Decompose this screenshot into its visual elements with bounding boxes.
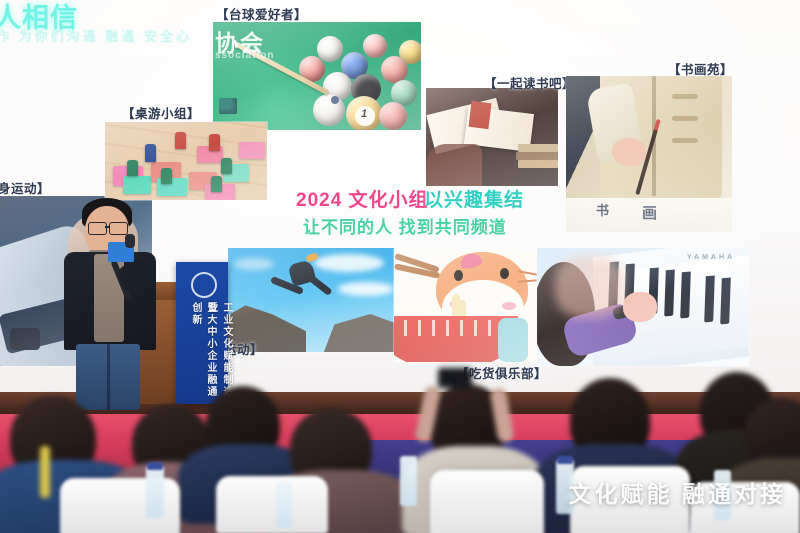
- emblem-icon: [191, 272, 217, 298]
- photo-tile-billiards: 1 协会 ssociation: [213, 22, 421, 130]
- tag-reading: 【一起读书吧】: [484, 73, 575, 92]
- chair-2: [216, 476, 328, 533]
- photo-tile-sports: [228, 248, 394, 352]
- speaker-glasses-left: [88, 222, 107, 235]
- calligraphy-photo: 书 画: [566, 76, 732, 232]
- billiards-overlay-en: ssociation: [215, 50, 274, 61]
- water-bottle-1: [146, 466, 164, 518]
- phone-device: [438, 368, 472, 388]
- speaker: [52, 198, 168, 410]
- calligraphy-ink-2: 画: [642, 202, 657, 223]
- tag-calligraphy: 【书画苑】: [668, 59, 733, 78]
- bottle-cap-2: [557, 456, 573, 464]
- photo-tile-reading: [426, 88, 558, 186]
- tag-billiards: 【台球爱好者】: [216, 4, 307, 23]
- tag-fitness: 身运动】: [0, 178, 50, 197]
- photo-tile-calligraphy: 书 画: [566, 76, 732, 232]
- banner-text-line2: 暨大中小企业融通创新: [188, 302, 218, 404]
- sports-photo: [228, 248, 394, 352]
- slogan-line1-primary: 2024 文化小组: [296, 185, 429, 212]
- chair-3: [430, 470, 544, 533]
- watermark-text: 文化赋能 融通对接: [569, 475, 786, 509]
- slogan-line1-secondary: 以兴趣集结: [424, 185, 524, 212]
- conference-photo: 人相信 作 为你们沟通 融通 安全心 身运动】: [0, 0, 800, 533]
- cartoon-photo: [394, 250, 542, 362]
- photo-tile-cartoon: [394, 250, 542, 362]
- water-bottle-3: [400, 456, 417, 506]
- billiards-photo: 1 协会 ssociation: [213, 22, 421, 130]
- calligraphy-ink-1: 书: [596, 200, 609, 219]
- piano-photo: YAMAHA: [537, 248, 749, 366]
- water-bottle-2: [276, 482, 292, 528]
- tag-boardgame: 【桌游小组】: [122, 103, 200, 122]
- screen-ghost-subheading: 作 为你们沟通 融通 安全心: [0, 26, 192, 45]
- boardgame-photo: [105, 122, 267, 200]
- reading-photo: [426, 88, 558, 186]
- yamaha-logo: YAMAHA: [687, 254, 735, 261]
- photo-tile-piano: YAMAHA: [537, 248, 749, 366]
- slogan-line2: 让不同的人 找到共同频道: [303, 213, 507, 238]
- speaker-glasses-right: [109, 222, 128, 235]
- podium-banner: 工业文化赋能制造业 暨大中小企业融通创新: [176, 262, 228, 404]
- bottle-cap-1: [147, 462, 163, 470]
- photo-tile-boardgame: [105, 122, 267, 200]
